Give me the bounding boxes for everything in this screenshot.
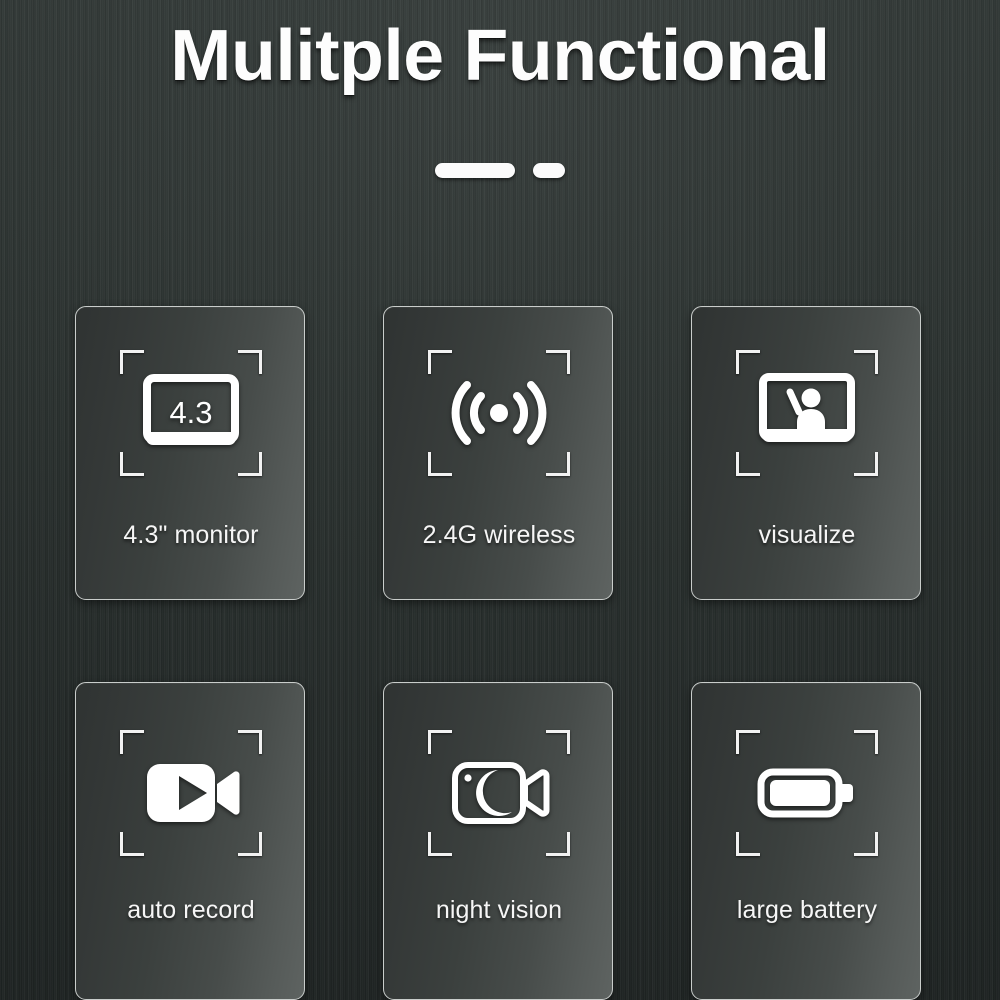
feature-card-auto-record[interactable]: auto record [75, 682, 305, 1000]
feature-label-visualize: visualize [692, 520, 921, 550]
screen-person-icon [751, 370, 863, 456]
divider-dash-short [533, 163, 565, 178]
battery-full-icon [751, 750, 863, 836]
icon-area [384, 723, 613, 863]
feature-label-night-vision: night vision [384, 895, 613, 925]
icon-area [384, 343, 613, 483]
viewfinder-brackets [736, 730, 878, 856]
viewfinder-brackets [736, 350, 878, 476]
monitor-43-icon: 4.3 [135, 370, 247, 456]
feature-label-auto-record: auto record [76, 895, 305, 925]
monitor-size-value: 4.3 [135, 397, 247, 428]
icon-area [692, 723, 921, 863]
viewfinder-brackets [120, 730, 262, 856]
feature-card-wireless[interactable]: 2.4G wireless [383, 306, 613, 600]
icon-area: 4.3 [76, 343, 305, 483]
feature-grid: 4.3 4.3" monitor [0, 0, 1000, 1000]
icon-area [76, 723, 305, 863]
divider-dash-long [435, 163, 515, 178]
viewfinder-brackets [428, 350, 570, 476]
feature-card-monitor[interactable]: 4.3 4.3" monitor [75, 306, 305, 600]
feature-label-wireless: 2.4G wireless [384, 520, 613, 550]
icon-area [692, 343, 921, 483]
viewfinder-brackets [428, 730, 570, 856]
feature-label-monitor: 4.3" monitor [76, 520, 305, 550]
camera-moon-icon [443, 750, 555, 836]
feature-card-night-vision[interactable]: night vision [383, 682, 613, 1000]
feature-card-battery[interactable]: large battery [691, 682, 921, 1000]
feature-card-visualize[interactable]: visualize [691, 306, 921, 600]
viewfinder-brackets: 4.3 [120, 350, 262, 476]
feature-label-battery: large battery [692, 895, 921, 925]
page-title: Mulitple Functional [0, 8, 1000, 104]
video-camera-play-icon [135, 750, 247, 836]
wireless-signal-icon [443, 370, 555, 456]
feature-poster: Mulitple Functional 4.3 [0, 0, 1000, 1000]
divider [0, 163, 1000, 178]
